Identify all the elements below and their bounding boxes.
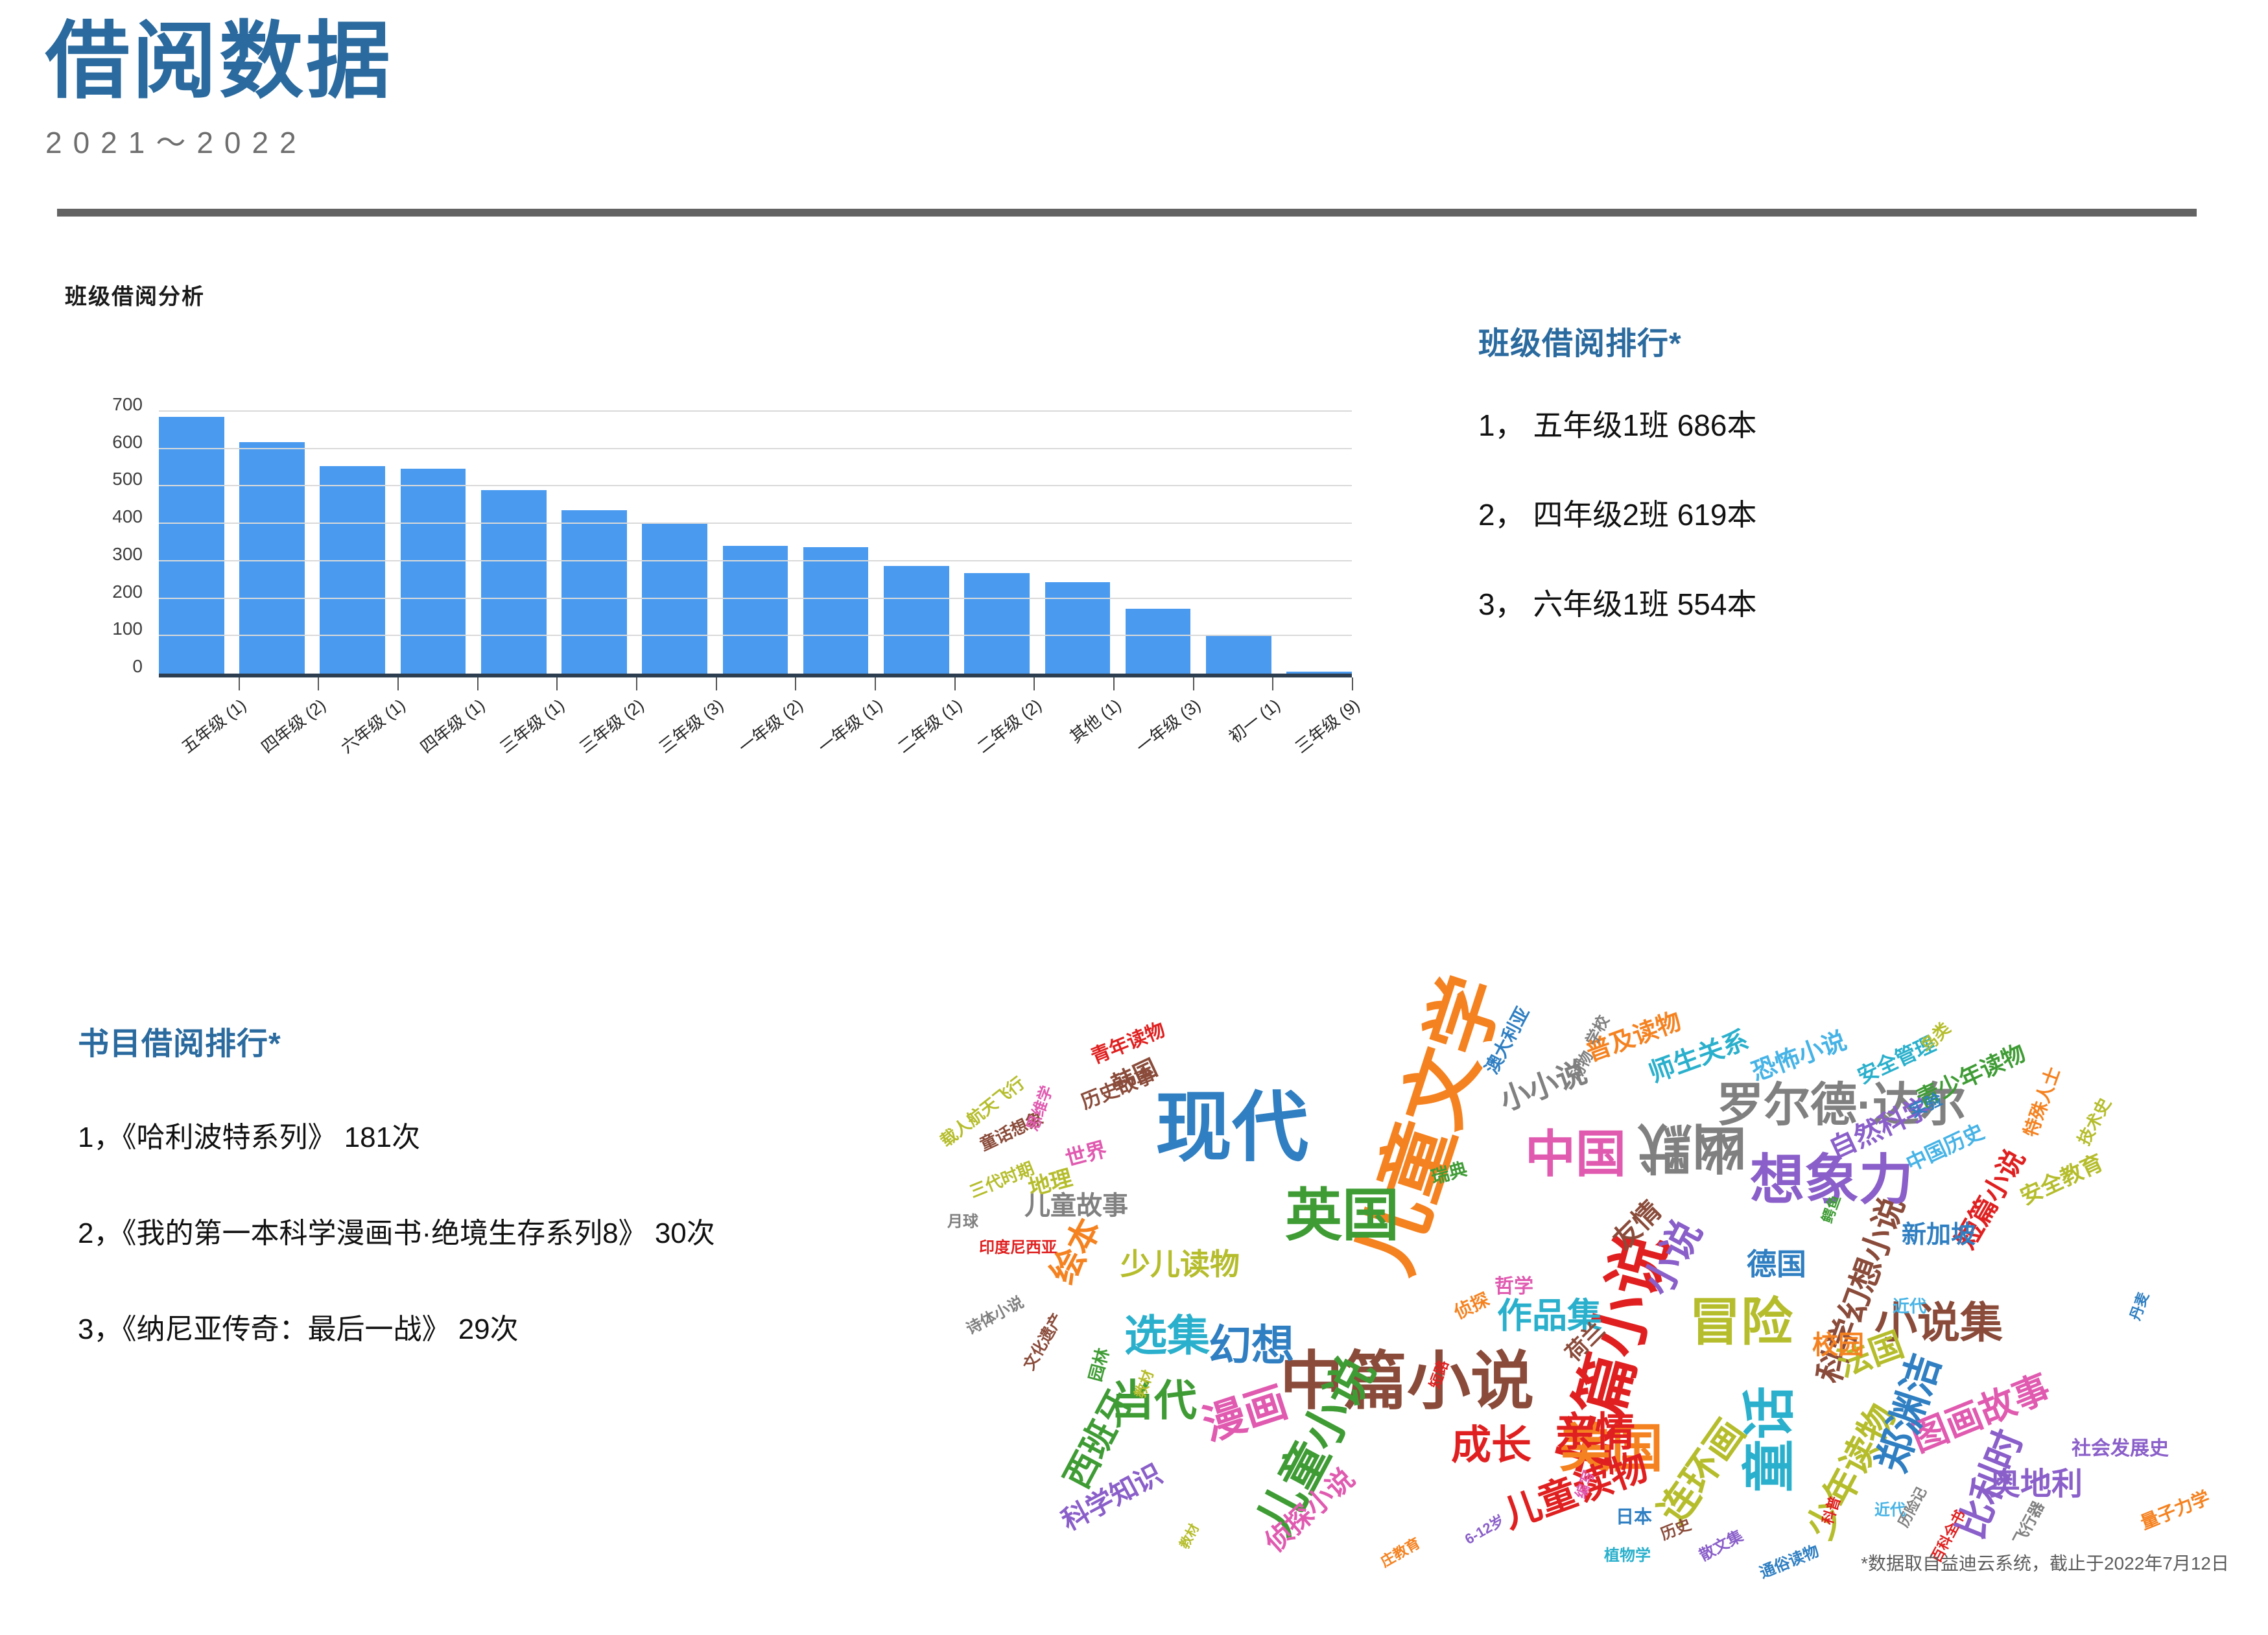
word-cloud-term: 亲情: [1555, 1413, 1635, 1453]
gridline: [159, 523, 1352, 524]
y-tick-label: 500: [112, 469, 143, 489]
gridline: [159, 635, 1352, 636]
word-cloud-term: 安全教育: [2017, 1151, 2107, 1208]
word-cloud-term: 月球: [947, 1214, 978, 1230]
class-rank-item-2: 2， 四年级2班 619本: [1478, 491, 2191, 534]
class-ranking-panel: 班级借阅排行* 1， 五年级1班 686本 2， 四年级2班 619本 3， 六…: [1478, 318, 2191, 670]
y-tick-label: 0: [132, 656, 143, 677]
class-rank-item-3: 3， 六年级1班 554本: [1478, 581, 2191, 624]
gridline: [159, 448, 1352, 449]
chart-bar[interactable]: [320, 466, 385, 674]
word-cloud-term: 日本: [1616, 1508, 1652, 1526]
page-subtitle: 2021～2022: [45, 119, 393, 162]
word-cloud-term: 特殊人士: [2022, 1065, 2064, 1140]
x-axis-line: [159, 674, 1352, 677]
word-cloud-term: 冒险: [1689, 1297, 1793, 1348]
word-cloud-term: 现代: [1155, 1090, 1308, 1166]
word-cloud-term: 技术史: [2075, 1095, 2114, 1147]
word-cloud-term: 德国: [1747, 1249, 1806, 1279]
word-cloud-term: 通俗读物: [1758, 1544, 1821, 1581]
word-cloud-term: 恐怖小说: [1749, 1028, 1850, 1085]
word-cloud-term: 中国: [1525, 1129, 1626, 1179]
chart-bar[interactable]: [561, 510, 627, 674]
chart-bar[interactable]: [723, 546, 788, 674]
gridline: [159, 598, 1352, 599]
word-cloud-term: 飞行器: [2012, 1500, 2048, 1548]
word-cloud-term: 文化遗产: [1022, 1311, 1067, 1372]
footnote: *数据取自益迪云系统，截止于2022年7月12日: [1861, 1549, 2229, 1575]
word-cloud-term: 连环画: [1653, 1413, 1751, 1531]
y-axis-labels: 0100200300400500600700: [65, 401, 143, 679]
gridline: [159, 410, 1352, 412]
chart-bar[interactable]: [239, 442, 305, 674]
y-tick-label: 300: [112, 544, 143, 565]
word-cloud-term: 校园: [1812, 1332, 1864, 1358]
chart-bar[interactable]: [964, 573, 1030, 674]
gridline: [159, 485, 1352, 486]
word-cloud-term: 社会发展史: [2072, 1439, 2169, 1459]
y-tick-label: 700: [112, 394, 143, 415]
word-cloud-term: 印度尼西亚: [979, 1240, 1057, 1256]
chart-bar[interactable]: [1045, 582, 1111, 674]
book-rank-item-2: 2，《我的第一本科学漫画书·绝境生存系列8》 30次: [78, 1210, 986, 1251]
y-tick-label: 200: [112, 582, 143, 602]
y-tick-label: 400: [112, 506, 143, 527]
chart-bar[interactable]: [884, 566, 949, 674]
book-rank-item-3: 3，《纳尼亚传奇：最后一战》 29次: [78, 1306, 986, 1347]
word-cloud-term: 哲学: [1494, 1277, 1533, 1297]
y-tick-label: 600: [112, 432, 143, 453]
chart-title: 班级借阅分析: [65, 279, 1362, 311]
gridline: [159, 560, 1352, 561]
word-cloud-term: 世界: [1063, 1138, 1109, 1169]
word-cloud-term: 历史: [1659, 1517, 1693, 1543]
word-cloud-term: 漫画: [1198, 1380, 1292, 1447]
word-cloud-term: 少儿读物: [1120, 1249, 1240, 1279]
word-cloud-term: 侦探: [1452, 1290, 1493, 1322]
book-ranking-heading: 书目借阅排行*: [78, 1018, 986, 1063]
category-word-cloud: 现代儿童文学中篇小说长篇小说英国中国罗尔德·达尔想象力幽默美国童话冒险儿童小说小…: [927, 992, 2263, 1530]
word-cloud-term: 散文集: [1697, 1529, 1746, 1564]
chart-bar[interactable]: [481, 490, 547, 674]
word-cloud-term: 量子力学: [2138, 1488, 2212, 1533]
word-cloud-term: 植物学: [1604, 1548, 1651, 1564]
word-cloud-term: 奥地利: [1989, 1469, 2083, 1500]
chart-bar[interactable]: [1206, 635, 1271, 674]
word-cloud-term: 诗体小说: [964, 1295, 1026, 1337]
header-divider: [57, 209, 2197, 217]
word-cloud-term: 英国: [1285, 1187, 1399, 1244]
slide-root: 借阅数据 2021～2022 班级借阅分析 010020030040050060…: [0, 0, 2268, 1635]
x-tick-label: 五年级 (1): [113, 692, 251, 807]
word-cloud-term: 幻想: [1209, 1324, 1294, 1367]
book-ranking-panel: 书目借阅排行* 1，《哈利波特系列》 181次 2，《我的第一本科学漫画书·绝境…: [78, 1018, 986, 1402]
word-cloud-term: 青年读物: [1089, 1020, 1168, 1068]
x-tick: [1352, 677, 1353, 690]
class-borrow-chart: 班级借阅分析 0100200300400500600700 五年级 (1)四年级…: [65, 279, 1362, 771]
x-axis-labels: 五年级 (1)四年级 (2)六年级 (1)四年级 (1)三年级 (1)三年级 (…: [159, 687, 1352, 784]
word-cloud-term: 近代: [1893, 1298, 1926, 1315]
book-rank-item-1: 1，《哈利波特系列》 181次: [78, 1114, 986, 1155]
chart-bar[interactable]: [401, 469, 466, 674]
word-cloud-term: 新加坡: [1902, 1223, 1976, 1247]
y-tick-label: 100: [112, 618, 143, 639]
word-cloud-term: 教材: [1178, 1522, 1201, 1551]
word-cloud-term: 选集: [1124, 1314, 1210, 1357]
class-ranking-heading: 班级借阅排行*: [1478, 318, 2191, 363]
slide-header: 借阅数据 2021～2022: [45, 13, 393, 162]
word-cloud-term: 园林: [1087, 1347, 1112, 1383]
chart-bar[interactable]: [642, 524, 707, 674]
word-cloud-term: 成长: [1451, 1426, 1531, 1466]
chart-bar[interactable]: [803, 547, 869, 674]
chart-bar[interactable]: [1126, 609, 1191, 674]
word-cloud-term: 童话: [1743, 1386, 1797, 1492]
chart-plot-area: [159, 412, 1352, 677]
word-cloud-term: 幽默: [1638, 1120, 1747, 1175]
word-cloud-term: 思维学: [1025, 1084, 1056, 1133]
word-cloud-term: 丹麦: [2128, 1291, 2151, 1323]
word-cloud-term: 6-12岁: [1463, 1513, 1507, 1547]
word-cloud-term: 庄教育: [1378, 1536, 1423, 1570]
class-rank-item-1: 1， 五年级1班 686本: [1478, 402, 2191, 445]
page-title: 借阅数据: [45, 13, 393, 110]
